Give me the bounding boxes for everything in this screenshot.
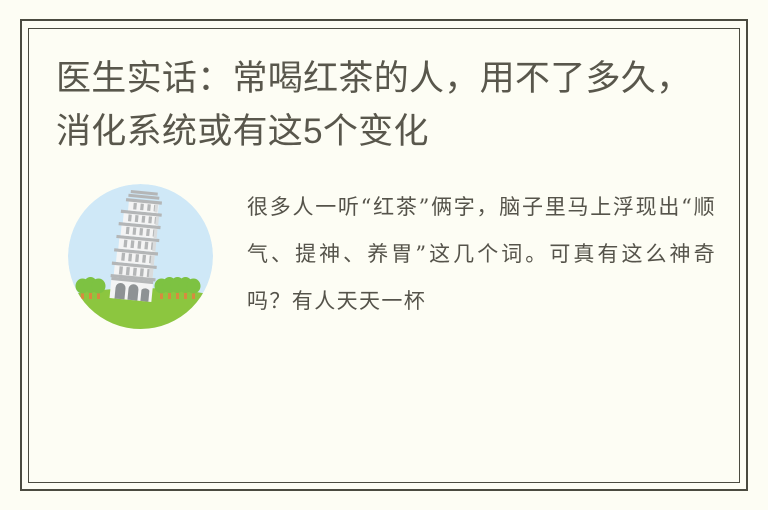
article-content: 医生实话：常喝红茶的人，用不了多久，消化系统或有这5个变化 bbox=[56, 52, 716, 462]
article-headline: 医生实话：常喝红茶的人，用不了多久，消化系统或有这5个变化 bbox=[56, 52, 696, 158]
leaning-tower-of-pisa-icon bbox=[68, 184, 213, 329]
article-excerpt: 很多人一听“红茶”俩字，脑子里马上浮现出“顺气、提神、养胃”这几个词。可真有这么… bbox=[247, 184, 716, 325]
article-card: 医生实话：常喝红茶的人，用不了多久，消化系统或有这5个变化 bbox=[0, 0, 768, 510]
article-body: 很多人一听“红茶”俩字，脑子里马上浮现出“顺气、提神、养胃”这几个词。可真有这么… bbox=[56, 180, 716, 329]
